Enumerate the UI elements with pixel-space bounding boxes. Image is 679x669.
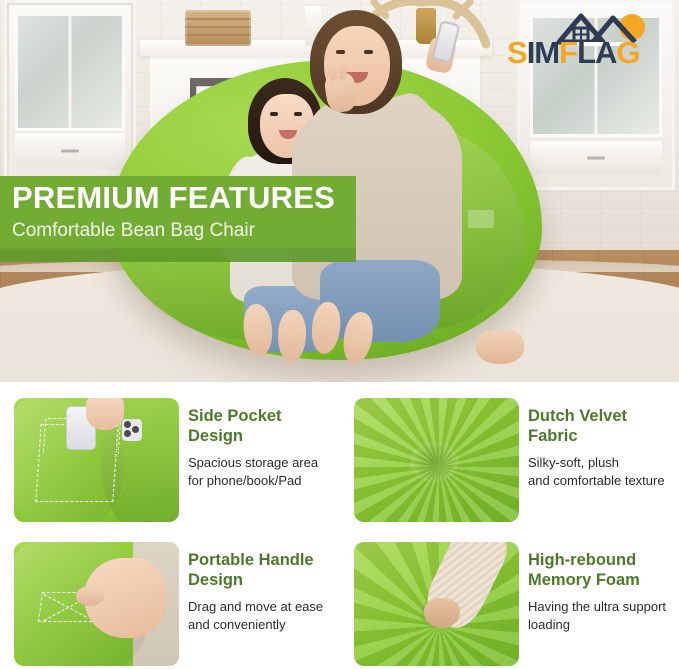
fist-pressing xyxy=(424,598,460,628)
product-feature-infographic: SIMFLAG PREMIUM FEATURES Comfortable Bea… xyxy=(0,0,679,669)
feature-title-line-1: High-rebound xyxy=(528,551,636,569)
feature-title: Side Pocket Design xyxy=(188,406,338,446)
feature-text-side-pocket: Side Pocket Design Spacious storage area… xyxy=(188,406,338,489)
foot xyxy=(277,310,307,363)
banner-title: PREMIUM FEATURES xyxy=(12,180,356,216)
bare-feet xyxy=(240,300,370,360)
feature-title: Dutch Velvet Fabric xyxy=(528,406,678,446)
left-cabinet xyxy=(4,0,136,182)
swirl-center xyxy=(410,442,458,482)
feature-title: Portable Handle Design xyxy=(188,550,338,590)
hand xyxy=(86,398,124,430)
feature-desc-line-1: Drag and move at ease xyxy=(188,599,323,614)
feature-card-portable-handle: Portable Handle Design Drag and move at … xyxy=(0,536,339,669)
cabinet-glass-doors xyxy=(15,13,125,131)
adult-model xyxy=(268,8,474,338)
feature-image-side-pocket xyxy=(14,398,179,522)
feature-card-side-pocket: Side Pocket Design Spacious storage area… xyxy=(0,392,339,531)
banner-subtitle: Comfortable Bean Bag Chair xyxy=(12,218,356,244)
banner-accent-strip xyxy=(0,248,356,262)
feature-text-memory-foam: High-rebound Memory Foam Having the ultr… xyxy=(528,550,678,633)
feature-title-line-2: Design xyxy=(188,571,243,589)
feature-description: Silky-soft, plush and comfortable textur… xyxy=(528,454,678,489)
thumb-finger xyxy=(76,586,104,606)
foot xyxy=(309,301,342,356)
brand-letter-s: S xyxy=(507,35,527,70)
feature-grid: Side Pocket Design Spacious storage area… xyxy=(0,392,679,669)
foot xyxy=(241,303,274,358)
feature-image-memory-foam xyxy=(354,542,519,666)
feature-text-portable-handle: Portable Handle Design Drag and move at … xyxy=(188,550,338,633)
feature-desc-line-2: and conveniently xyxy=(188,617,286,632)
feature-desc-line-2: and comfortable texture xyxy=(528,473,665,488)
feature-image-velvet-fabric xyxy=(354,398,519,522)
feature-title-line-2: Memory Foam xyxy=(528,571,640,589)
feature-desc-line-1: Silky-soft, plush xyxy=(528,455,619,470)
hand-resting-on-floor xyxy=(476,330,524,364)
feature-title-line-1: Portable Handle xyxy=(188,551,314,569)
feature-description: Spacious storage area for phone/book/Pad xyxy=(188,454,338,489)
feature-title-line-2: Design xyxy=(188,427,243,445)
brand-letter-g: G xyxy=(616,35,639,70)
feature-title-line-2: Fabric xyxy=(528,427,578,445)
feature-desc-line-2: for phone/book/Pad xyxy=(188,473,301,488)
brand-wordmark: SIMFLAG xyxy=(507,36,667,70)
feature-desc-line-2: loading xyxy=(528,617,570,632)
feature-desc-line-1: Spacious storage area xyxy=(188,455,318,470)
feature-title-line-1: Side Pocket xyxy=(188,407,282,425)
hero-lifestyle-image: SIMFLAG PREMIUM FEATURES Comfortable Bea… xyxy=(0,0,679,382)
brand-letter-f: F xyxy=(559,35,577,70)
feature-description: Drag and move at ease and conveniently xyxy=(188,598,338,633)
feature-title-line-1: Dutch Velvet xyxy=(528,407,627,425)
brand-letters-im: IM xyxy=(527,35,559,70)
cabinet-drawer xyxy=(528,139,664,177)
brand-logo: SIMFLAG xyxy=(507,8,667,74)
brand-letters-la: LA xyxy=(577,35,616,70)
feature-title: High-rebound Memory Foam xyxy=(528,550,678,590)
wicker-basket xyxy=(185,10,251,46)
feature-description: Having the ultra support loading xyxy=(528,598,678,633)
adult-eye-left xyxy=(336,50,345,54)
phone-camera-icon xyxy=(122,419,142,441)
feature-card-dutch-velvet-fabric: Dutch Velvet Fabric Silky-soft, plush an… xyxy=(340,392,679,531)
smartphone-icon xyxy=(431,20,460,64)
feature-image-portable-handle xyxy=(14,542,179,666)
cabinet-drawer xyxy=(13,131,127,171)
feature-desc-line-1: Having the ultra support xyxy=(528,599,666,614)
feature-card-memory-foam: High-rebound Memory Foam Having the ultr… xyxy=(340,536,679,669)
adult-eye-right xyxy=(364,50,373,54)
feature-text-dutch-velvet-fabric: Dutch Velvet Fabric Silky-soft, plush an… xyxy=(528,406,678,489)
